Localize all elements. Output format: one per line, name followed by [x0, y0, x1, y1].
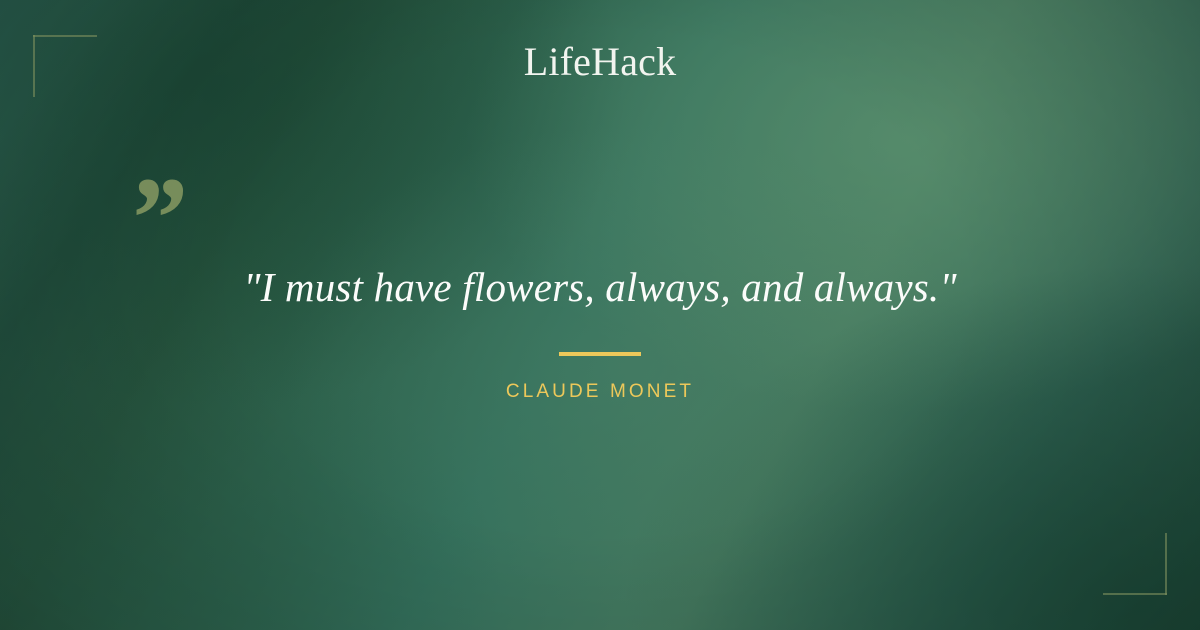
brand-logo: LifeHack: [0, 40, 1200, 84]
corner-bracket-vertical-line: [1165, 533, 1167, 595]
corner-bracket-horizontal-line: [33, 35, 97, 37]
corner-bracket-bottom-right-icon: [1103, 533, 1167, 595]
quote-text: "I must have flowers, always, and always…: [0, 258, 1200, 316]
corner-bracket-horizontal-line: [1103, 593, 1167, 595]
quote-block: "I must have flowers, always, and always…: [0, 258, 1200, 403]
gold-divider: [559, 352, 641, 356]
quote-author: CLAUDE MONET: [0, 381, 1200, 403]
quote-card: LifeHack ” "I must have flowers, always,…: [0, 0, 1200, 630]
